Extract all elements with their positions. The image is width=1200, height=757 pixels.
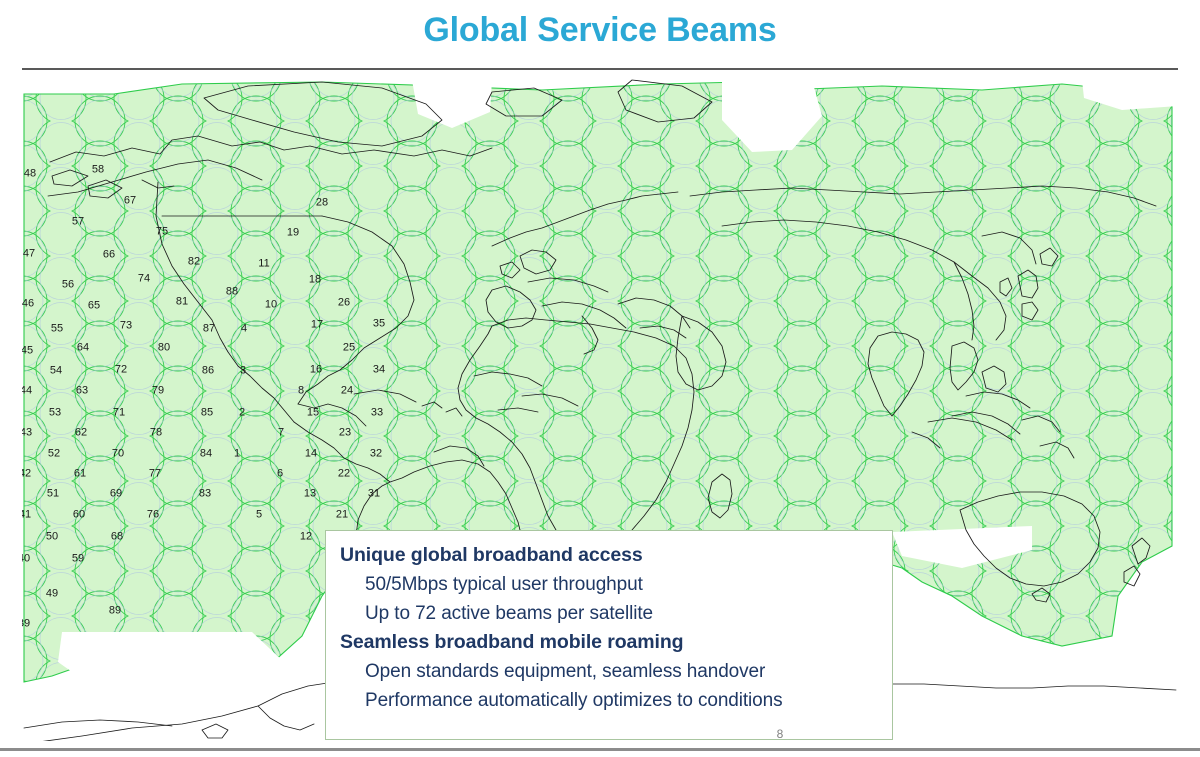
page-title: Global Service Beams xyxy=(0,11,1200,50)
coverage-gap-south-pacific xyxy=(58,632,284,702)
callout-detail: Up to 72 active beams per satellite xyxy=(340,600,892,629)
title-bar: Global Service Beams xyxy=(0,0,1200,68)
title-divider xyxy=(22,68,1178,70)
feature-callout-box: Unique global broadband access50/5Mbps t… xyxy=(325,530,893,740)
slide-root: Global Service Beams xyxy=(0,0,1200,757)
callout-detail: Performance automatically optimizes to c… xyxy=(340,687,892,716)
callout-detail: Open standards equipment, seamless hando… xyxy=(340,658,892,687)
bottom-divider xyxy=(0,748,1200,751)
callout-heading: Seamless broadband mobile roaming xyxy=(340,628,892,658)
callout-detail: 50/5Mbps typical user throughput xyxy=(340,571,892,600)
callout-line-list: Unique global broadband access50/5Mbps t… xyxy=(340,541,892,716)
callout-heading: Unique global broadband access xyxy=(340,541,892,571)
page-number: 8 xyxy=(760,727,800,741)
